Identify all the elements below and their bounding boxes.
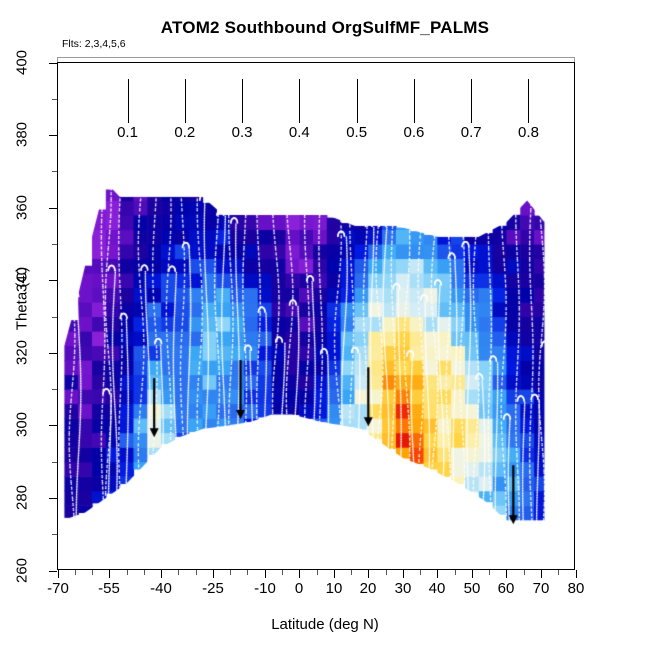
x-axis-tick xyxy=(213,570,214,578)
x-axis-tick xyxy=(576,570,577,578)
y-axis-minor-tick xyxy=(52,99,57,100)
x-axis-tick-label: -25 xyxy=(202,580,224,597)
page-title: ATOM2 Southbound OrgSulfMF_PALMS xyxy=(0,18,650,38)
x-axis-tick xyxy=(299,570,300,578)
y-axis-minor-tick xyxy=(52,171,57,172)
y-axis-tick xyxy=(49,425,57,426)
y-axis-tick-label: 380 xyxy=(14,113,31,157)
x-axis-minor-tick xyxy=(178,570,179,575)
x-axis-tick-label: 70 xyxy=(533,580,550,597)
y-axis-minor-tick xyxy=(52,317,57,318)
y-axis-tick-label: 300 xyxy=(14,403,31,447)
colorbar-tick xyxy=(471,79,472,123)
x-axis-minor-tick xyxy=(282,570,283,575)
colorbar-tick-label: 0.8 xyxy=(518,124,539,141)
x-axis-minor-tick xyxy=(92,570,93,575)
x-axis-tick xyxy=(541,570,542,578)
x-axis-label: Latitude (deg N) xyxy=(0,616,650,633)
x-axis-minor-tick xyxy=(558,570,559,575)
y-axis-tick xyxy=(49,353,57,354)
y-axis-minor-tick xyxy=(52,244,57,245)
x-axis-tick-label: -40 xyxy=(150,580,172,597)
y-axis-tick-label: 360 xyxy=(14,186,31,230)
x-axis-tick xyxy=(437,570,438,578)
y-axis-tick-label: 340 xyxy=(14,258,31,302)
x-axis-tick xyxy=(334,570,335,578)
colorbar-tick xyxy=(299,79,300,123)
x-axis-minor-tick xyxy=(75,570,76,575)
x-axis-tick-label: 10 xyxy=(326,580,343,597)
y-axis-tick xyxy=(49,135,57,136)
x-axis-tick xyxy=(403,570,404,578)
x-axis-tick-label: -55 xyxy=(98,580,120,597)
colorbar-tick xyxy=(414,79,415,123)
y-axis-tick xyxy=(49,498,57,499)
y-axis-tick-label: 260 xyxy=(14,549,31,593)
y-axis-minor-tick xyxy=(52,389,57,390)
x-axis-tick-label: 30 xyxy=(395,580,412,597)
flights-label: Flts: 2,3,4,5,6 xyxy=(62,38,126,50)
y-axis-tick-label: 280 xyxy=(14,476,31,520)
x-axis-tick-label: 60 xyxy=(498,580,515,597)
x-axis-tick xyxy=(506,570,507,578)
x-axis-tick-label: 40 xyxy=(429,580,446,597)
x-axis-minor-tick xyxy=(351,570,352,575)
y-axis-tick-label: 320 xyxy=(14,331,31,375)
y-axis-tick xyxy=(49,208,57,209)
y-axis-tick xyxy=(49,280,57,281)
x-axis-tick-label: 0 xyxy=(295,580,303,597)
colorbar-tick xyxy=(242,79,243,123)
colorbar-tick-label: 0.1 xyxy=(117,124,138,141)
x-axis-minor-tick xyxy=(489,570,490,575)
colorbar-tick-label: 0.2 xyxy=(174,124,195,141)
x-axis-tick-label: -70 xyxy=(47,580,69,597)
colorbar-tick-label: 0.6 xyxy=(403,124,424,141)
x-axis-tick-label: 20 xyxy=(360,580,377,597)
x-axis-tick xyxy=(58,570,59,578)
x-axis-minor-tick xyxy=(420,570,421,575)
x-axis-tick-label: 80 xyxy=(568,580,585,597)
x-axis-minor-tick xyxy=(127,570,128,575)
x-axis-tick-label: 50 xyxy=(464,580,481,597)
x-axis-tick xyxy=(472,570,473,578)
x-axis-minor-tick xyxy=(230,570,231,575)
x-axis-tick xyxy=(265,570,266,578)
colorbar-tick-label: 0.5 xyxy=(346,124,367,141)
x-axis-tick-label: -10 xyxy=(254,580,276,597)
x-axis-tick xyxy=(109,570,110,578)
y-axis-tick xyxy=(49,63,57,64)
x-axis-minor-tick xyxy=(196,570,197,575)
x-axis-minor-tick xyxy=(317,570,318,575)
y-axis-tick xyxy=(49,571,57,572)
colorbar-tick-label: 0.4 xyxy=(289,124,310,141)
x-axis-minor-tick xyxy=(247,570,248,575)
y-axis-tick-label: 400 xyxy=(14,41,31,85)
x-axis-tick xyxy=(161,570,162,578)
x-axis-minor-tick xyxy=(455,570,456,575)
x-axis-minor-tick xyxy=(386,570,387,575)
colorbar-tick xyxy=(185,79,186,123)
colorbar-tick xyxy=(528,79,529,123)
y-axis-minor-tick xyxy=(52,462,57,463)
colorbar-tick-label: 0.7 xyxy=(461,124,482,141)
y-axis-minor-tick xyxy=(52,534,57,535)
x-axis-tick xyxy=(368,570,369,578)
colorbar-tick-label: 0.3 xyxy=(232,124,253,141)
figure-root: ATOM2 Southbound OrgSulfMF_PALMS Flts: 2… xyxy=(0,0,650,650)
x-axis-minor-tick xyxy=(524,570,525,575)
x-axis-minor-tick xyxy=(144,570,145,575)
colorbar-tick xyxy=(357,79,358,123)
colorbar-tick xyxy=(128,79,129,123)
